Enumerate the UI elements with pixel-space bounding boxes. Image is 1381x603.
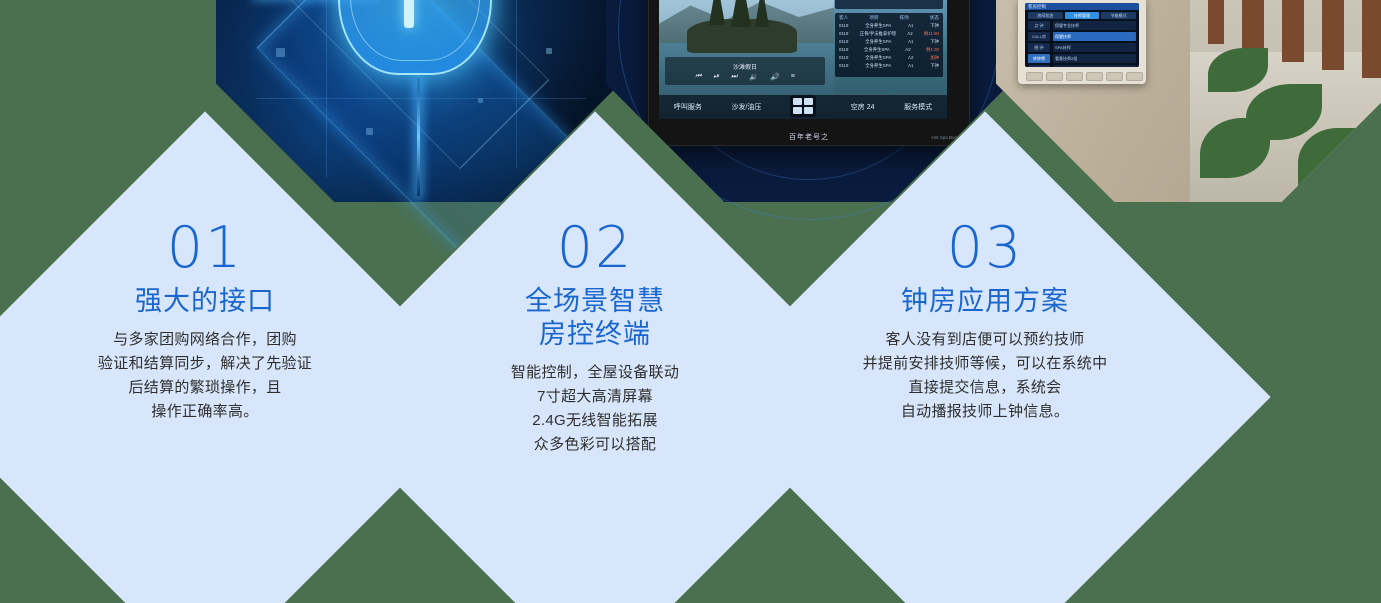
card-body-01: 与多家团购网络合作，团购 验证和结算同步，解决了先验证 后结算的繁琐操作，且 操… — [98, 328, 312, 424]
cell-tech: A1 — [908, 62, 913, 70]
card-body-03: 客人没有到店便可以预约技师 并提前安排技师等候，可以在系统中 直接提交信息，系统… — [863, 328, 1108, 424]
cell-item: 全身养生SPA — [864, 46, 890, 54]
wall-control-panel[interactable]: 客房控制 房间状态 技师管理 节能模式 点 钟CALL房圈 钟转钟牌退 钟 保健… — [1018, 0, 1146, 84]
panel-right-item[interactable]: SPA技师 — [1053, 43, 1136, 52]
cell-status: 加钟 — [930, 54, 939, 62]
next-icon: ⏭ — [731, 72, 737, 80]
panel-button-1 — [1026, 72, 1043, 81]
panel-button-4 — [1086, 72, 1103, 81]
cell-item: 全身养生SPA — [865, 62, 891, 70]
service-row[interactable]: 0119全身养生SPAA1下钟 — [837, 62, 941, 70]
panel-left-item[interactable]: 点 钟 — [1028, 21, 1050, 30]
cell-guest: 0119 — [839, 38, 848, 46]
panel-screen: 客房控制 房间状态 技师管理 节能模式 点 钟CALL房圈 钟转钟牌退 钟 保健… — [1025, 3, 1139, 67]
panel-right-item[interactable]: 看客技师2组 — [1053, 54, 1136, 63]
apps-grid-button[interactable] — [790, 95, 816, 117]
btn-service-mode[interactable]: 服务模式 — [904, 102, 932, 112]
panel-left-item[interactable]: 转钟牌 — [1028, 54, 1050, 63]
cell-guest: 0119 — [839, 22, 848, 30]
cell-item: 正骨/手法推拿护理 — [860, 30, 896, 38]
panel-tab-1[interactable]: 技师管理 — [1065, 12, 1100, 19]
cell-guest: 0119 — [839, 62, 848, 70]
panel-button-6 — [1126, 72, 1143, 81]
list-icon: ≡ — [791, 73, 795, 81]
cell-guest: 0119 — [839, 46, 848, 54]
prev-icon: ⏮ — [695, 72, 701, 80]
panel-hard-buttons[interactable] — [1026, 72, 1143, 81]
media-controls[interactable]: ⏮⏯⏭ 🔉🔊≡ — [695, 73, 795, 81]
tablet-screen: 22:35 SPA6房 26℃ 11/24 客人 项目 技师 状态 — [659, 0, 947, 119]
btn-call-service[interactable]: 呼叫服务 — [674, 102, 702, 112]
cell-item: 全身养生SPA — [865, 22, 891, 30]
col-tech: 技师 — [900, 15, 909, 21]
card-title-01: 强大的接口 — [135, 285, 275, 318]
card-body-02: 智能控制，全屋设备联动 7寸超大高清屏幕 2.4G无线智能拓展 众多色彩可以搭配 — [511, 361, 679, 457]
service-row[interactable]: 0119全身养生SPAA1下钟 — [837, 22, 941, 30]
panel-right-item[interactable]: 看客技师2组 — [1053, 65, 1136, 67]
panel-right-item[interactable]: 保健专业技师 — [1053, 21, 1136, 30]
panel-right-list[interactable]: 保健专业技师保健技师SPA技师看客技师2组看客技师2组区域控制排灯管理房间控制采… — [1053, 21, 1136, 67]
panel-title: 客房控制 — [1025, 3, 1139, 10]
service-list-widget: 客人 项目 技师 状态 0119全身养生SPAA1下钟0119正骨/手法推拿护理… — [835, 13, 943, 77]
cell-status: 下钟 — [930, 38, 939, 46]
cell-tech: A1 — [908, 22, 913, 30]
panel-left-item[interactable]: 退 钟 — [1028, 65, 1050, 67]
card-number-02: 02 — [557, 217, 634, 279]
panel-right-item[interactable]: 保健技师 — [1053, 32, 1136, 41]
media-player-widget[interactable]: 沙滩假日 ⏮⏯⏭ 🔉🔊≡ — [665, 57, 825, 85]
btn-sofa-oil[interactable]: 沙发/油压 — [731, 102, 761, 112]
cell-guest: 0119 — [839, 30, 848, 38]
service-list-header: 客人 项目 技师 状态 — [837, 15, 941, 22]
service-row[interactable]: 0119全身养生SPAA2加钟 — [837, 54, 941, 62]
volume-up-icon: 🔊 — [770, 72, 779, 80]
infographic-canvas: CHIBO 22:35 SPA6房 26℃ 11/24 — [0, 0, 1381, 603]
btn-empty-rooms[interactable]: 空房 24 — [851, 102, 875, 112]
panel-button-2 — [1046, 72, 1063, 81]
panel-left-menu[interactable]: 点 钟CALL房圈 钟转钟牌退 钟 — [1028, 21, 1050, 67]
tablet-brand: 百年老号之 — [649, 132, 969, 142]
cell-item: 全身养生SPA — [865, 54, 891, 62]
cell-tech: A1 — [908, 38, 913, 46]
tablet-device: CHIBO 22:35 SPA6房 26℃ 11/24 — [648, 0, 970, 146]
card-title-03: 钟房应用方案 — [901, 285, 1069, 318]
panel-tab-2[interactable]: 节能模式 — [1101, 12, 1136, 19]
cell-status: 剩1:30 — [926, 46, 939, 54]
col-guest: 客人 — [839, 15, 848, 21]
media-title: 沙滩假日 — [733, 61, 757, 70]
cell-item: 全身养生SPA — [865, 38, 891, 46]
room-background — [1190, 0, 1381, 202]
play-icon: ⏯ — [713, 73, 719, 81]
panel-tab-0[interactable]: 房间状态 — [1028, 12, 1063, 19]
volume-down-icon: 🔉 — [749, 73, 758, 81]
card-number-03: 03 — [947, 217, 1024, 279]
key-stem-icon — [404, 0, 414, 28]
cell-status: 剩11:50 — [924, 30, 939, 38]
panel-left-item[interactable]: CALL房 — [1028, 32, 1050, 41]
service-row[interactable]: 0119正骨/手法推拿护理A2剩11:50 — [837, 30, 941, 38]
card-number-01: 01 — [167, 217, 244, 279]
col-item: 项目 — [869, 15, 878, 21]
panel-tabs[interactable]: 房间状态 技师管理 节能模式 — [1025, 10, 1139, 21]
cell-tech: A2 — [908, 54, 913, 62]
panel-button-3 — [1066, 72, 1083, 81]
cell-tech: A2 — [907, 30, 912, 38]
panel-left-item[interactable]: 圈 钟 — [1028, 43, 1050, 52]
service-row[interactable]: 0119全身养生SPAA2剩1:30 — [837, 46, 941, 54]
panel-button-5 — [1106, 72, 1123, 81]
card-title-02: 全场景智慧 房控终端 — [525, 285, 665, 351]
cell-guest: 0119 — [839, 54, 848, 62]
cell-status: 下钟 — [930, 62, 939, 70]
service-row[interactable]: 0119全身养生SPAA1下钟 — [837, 38, 941, 46]
cell-tech: A2 — [905, 46, 910, 54]
